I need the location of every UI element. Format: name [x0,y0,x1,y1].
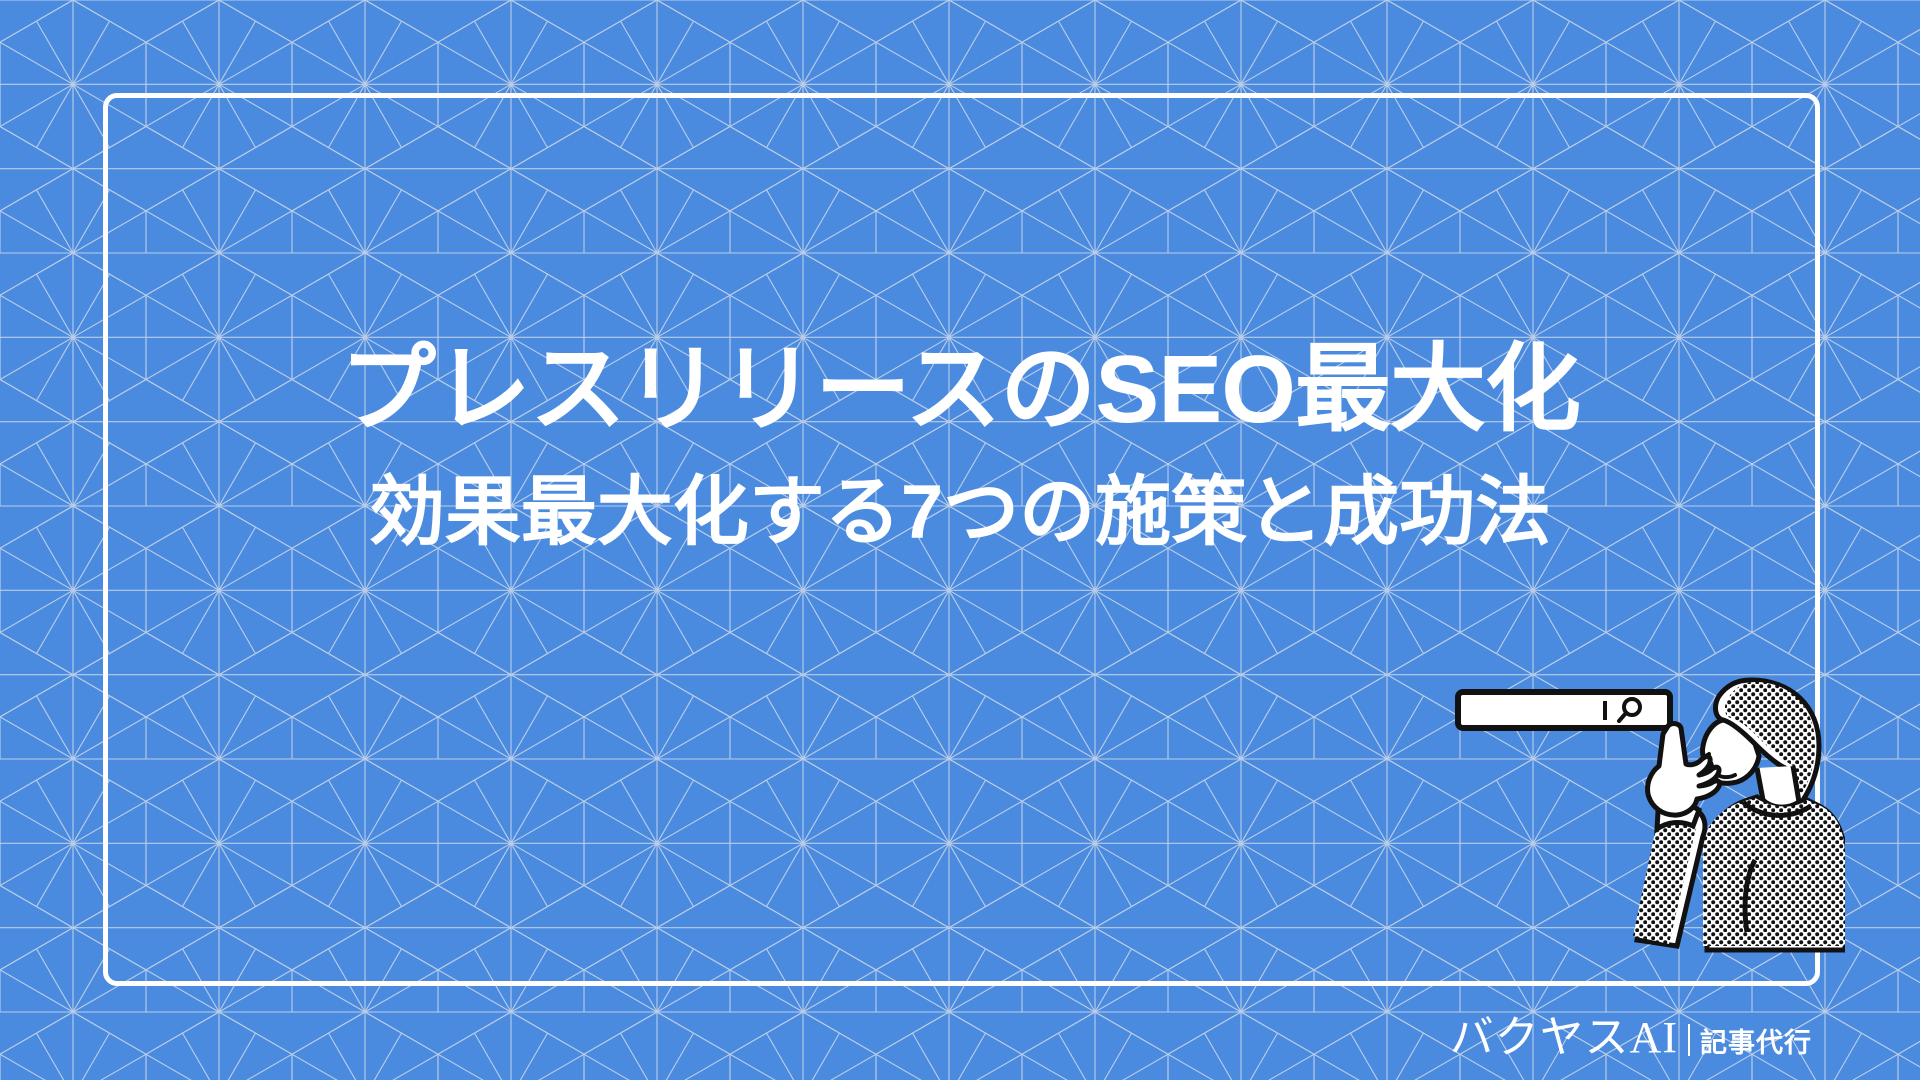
torso [1695,790,1845,960]
search-bar [1458,692,1670,728]
slide-canvas: プレスリリースのSEO最大化 効果最大化する7つの施策と成功法 [0,0,1920,1080]
pointing-arm [1625,805,1715,960]
title-block: プレスリリースのSEO最大化 効果最大化する7つの施策と成功法 [0,330,1920,568]
person-pointing-at-search-bar-illustration [1455,660,1845,990]
brand-name: バクヤスAI [1450,1016,1678,1060]
brand-divider [1688,1024,1690,1056]
brand-tagline: 記事代行 [1700,1030,1812,1057]
page-title-line-2: 効果最大化する7つの施策と成功法 [0,458,1920,568]
brand-logo: バクヤスAI 記事代行 [1450,1016,1812,1060]
page-title-line-1: プレスリリースのSEO最大化 [0,330,1920,450]
